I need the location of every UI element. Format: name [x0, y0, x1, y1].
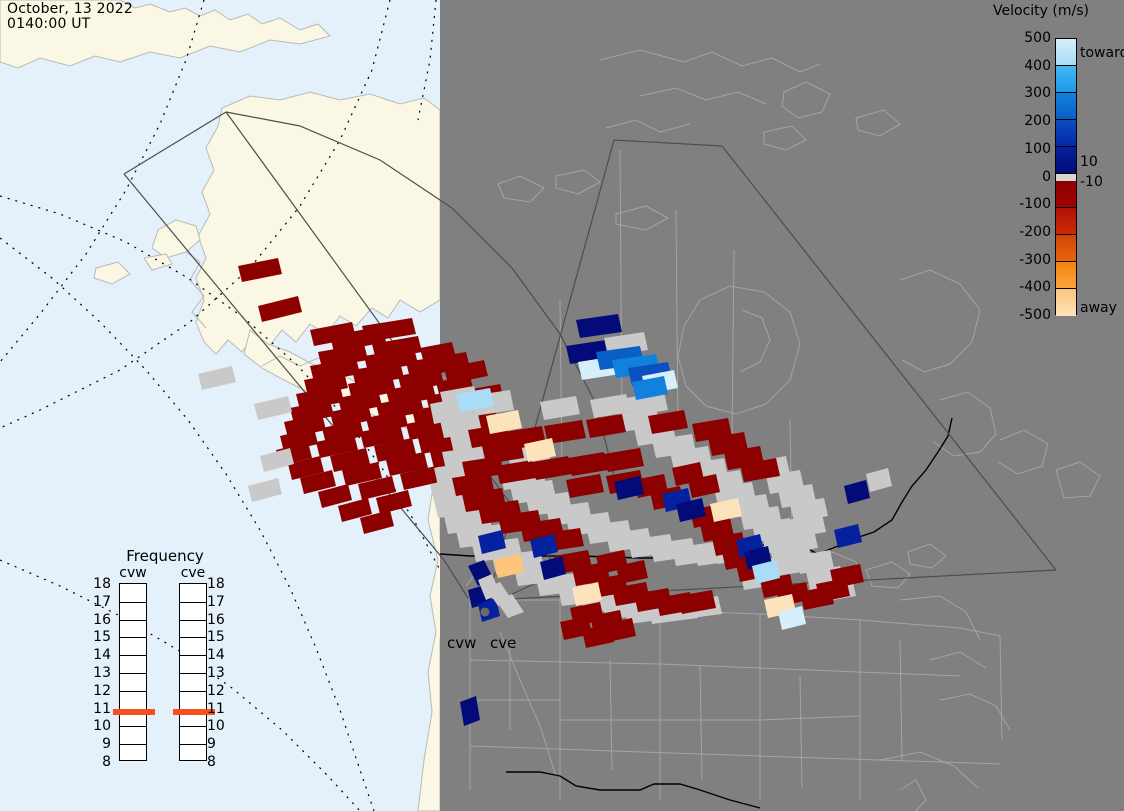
site-label-cve: cve	[490, 634, 516, 652]
timestamp-label: October, 13 2022 0140:00 UT	[7, 2, 133, 32]
frequency-divider	[120, 744, 146, 745]
colorbar-tick: 500	[1024, 31, 1051, 45]
colorbar-segment	[1056, 235, 1076, 262]
colorbar-tick: 400	[1024, 59, 1051, 73]
frequency-tick: 9	[85, 737, 111, 751]
radar-map-figure: October, 13 2022 0140:00 UT Velocity (m/…	[0, 0, 1124, 811]
colorbar-gs-lower-label: -10	[1080, 175, 1103, 189]
frequency-legend-title: Frequency	[85, 547, 245, 565]
colorbar-tick: -300	[1019, 253, 1051, 267]
frequency-divider	[120, 620, 146, 621]
colorbar-segment	[1056, 262, 1076, 289]
frequency-divider	[120, 726, 146, 727]
frequency-marker-cvw	[113, 709, 155, 715]
colorbar-gradient-box	[1055, 38, 1077, 315]
colorbar-segment	[1056, 208, 1076, 235]
frequency-divider	[120, 655, 146, 656]
colorbar-gs-upper-label: 10	[1080, 155, 1098, 169]
frequency-bar-cvw	[119, 583, 147, 761]
frequency-tick: 8	[207, 755, 233, 769]
frequency-tick: 16	[207, 613, 233, 627]
velocity-colorbar: Velocity (m/s) 5004003002001000-100-200-…	[975, 0, 1124, 340]
frequency-divider	[180, 655, 206, 656]
frequency-tick: 13	[85, 666, 111, 680]
frequency-tick: 9	[207, 737, 233, 751]
colorbar-tick: 100	[1024, 142, 1051, 156]
frequency-tick: 17	[207, 595, 233, 609]
colorbar-tick: -100	[1019, 197, 1051, 211]
colorbar-tick: 300	[1024, 86, 1051, 100]
frequency-radar-name: cvw	[113, 565, 153, 581]
frequency-divider	[180, 726, 206, 727]
frequency-tick: 17	[85, 595, 111, 609]
frequency-tick: 15	[207, 630, 233, 644]
frequency-tick: 15	[85, 630, 111, 644]
colorbar-segment	[1056, 39, 1076, 66]
frequency-divider	[120, 602, 146, 603]
colorbar-tick: 200	[1024, 114, 1051, 128]
frequency-divider	[180, 744, 206, 745]
colorbar-segment	[1056, 147, 1076, 174]
colorbar-segment	[1056, 93, 1076, 120]
frequency-tick: 14	[85, 648, 111, 662]
frequency-tick: 12	[207, 684, 233, 698]
frequency-divider	[120, 637, 146, 638]
frequency-bar-cve	[179, 583, 207, 761]
frequency-divider	[180, 602, 206, 603]
colorbar-segment	[1056, 120, 1076, 147]
colorbar-segment	[1056, 174, 1076, 181]
frequency-tick: 11	[207, 702, 233, 716]
radar-site-marker	[481, 608, 490, 617]
frequency-divider	[120, 673, 146, 674]
site-label-cvw: cvw	[447, 634, 476, 652]
frequency-tick: 14	[207, 648, 233, 662]
frequency-divider	[180, 637, 206, 638]
frequency-tick: 12	[85, 684, 111, 698]
colorbar-toward-label: toward	[1080, 46, 1124, 60]
frequency-tick: 10	[207, 719, 233, 733]
colorbar-segment	[1056, 181, 1076, 208]
colorbar-segment	[1056, 289, 1076, 316]
colorbar-away-label: away	[1080, 301, 1117, 315]
frequency-divider	[180, 620, 206, 621]
colorbar-tick: -500	[1019, 308, 1051, 322]
colorbar-tick: 0	[1042, 170, 1051, 184]
frequency-divider	[180, 691, 206, 692]
frequency-legend: Frequency cvwcve181716151413121110981817…	[85, 547, 245, 787]
colorbar-tick: -200	[1019, 225, 1051, 239]
frequency-tick: 18	[85, 577, 111, 591]
frequency-divider	[120, 691, 146, 692]
frequency-tick: 10	[85, 719, 111, 733]
colorbar-title: Velocity (m/s)	[975, 3, 1107, 19]
colorbar-segment	[1056, 66, 1076, 93]
frequency-tick: 16	[85, 613, 111, 627]
colorbar-tick: -400	[1019, 280, 1051, 294]
frequency-column-cvw: cvw	[113, 565, 153, 761]
frequency-tick: 8	[85, 755, 111, 769]
frequency-tick: 13	[207, 666, 233, 680]
frequency-tick: 11	[85, 702, 111, 716]
frequency-tick: 18	[207, 577, 233, 591]
frequency-divider	[180, 673, 206, 674]
